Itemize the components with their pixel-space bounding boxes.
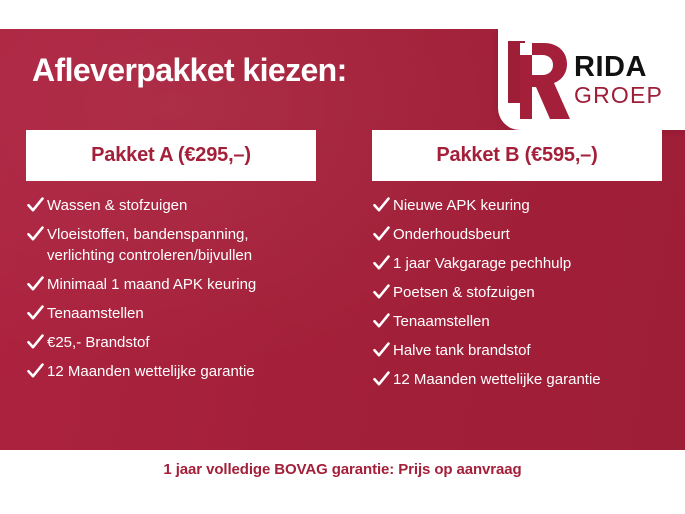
check-icon xyxy=(372,340,391,361)
bovag-guarantee-text: 1 jaar volledige BOVAG garantie: Prijs o… xyxy=(163,461,521,478)
check-icon xyxy=(26,195,45,216)
list-item: 1 jaar Vakgarage pechhulp xyxy=(372,253,662,274)
page-title: Afleverpakket kiezen: xyxy=(32,50,347,90)
afleverpakket-poster: Afleverpakket kiezen: RIDA GROEP xyxy=(0,0,685,514)
list-item-label: 12 Maanden wettelijke garantie xyxy=(391,369,662,390)
package-a-header: Pakket A (€295,–) xyxy=(26,130,316,181)
list-item: Poetsen & stofzuigen xyxy=(372,282,662,303)
check-icon xyxy=(372,369,391,390)
list-item-label: 12 Maanden wettelijke garantie xyxy=(45,361,316,382)
brand-logo: RIDA GROEP xyxy=(506,37,685,122)
list-item: 12 Maanden wettelijke garantie xyxy=(26,361,316,382)
list-item: Minimaal 1 maand APK keuring xyxy=(26,274,316,295)
red-background-panel: Afleverpakket kiezen: RIDA GROEP xyxy=(0,29,685,450)
check-icon xyxy=(26,332,45,353)
list-item: 12 Maanden wettelijke garantie xyxy=(372,369,662,390)
list-item-label: Minimaal 1 maand APK keuring xyxy=(45,274,316,295)
package-b-header: Pakket B (€595,–) xyxy=(372,130,662,181)
check-icon xyxy=(26,224,45,245)
list-item-label: Poetsen & stofzuigen xyxy=(391,282,662,303)
list-item: Halve tank brandstof xyxy=(372,340,662,361)
check-icon xyxy=(26,303,45,324)
list-item-label: Onderhoudsbeurt xyxy=(391,224,662,245)
list-item: Tenaamstellen xyxy=(26,303,316,324)
list-item: €25,- Brandstof xyxy=(26,332,316,353)
brand-wordmark: RIDA GROEP xyxy=(574,53,663,107)
list-item-label: €25,- Brandstof xyxy=(45,332,316,353)
list-item-label: Wassen & stofzuigen xyxy=(45,195,316,216)
brand-logo-panel: RIDA GROEP xyxy=(498,29,685,130)
list-item-label: 1 jaar Vakgarage pechhulp xyxy=(391,253,662,274)
check-icon xyxy=(372,282,391,303)
package-a-title: Pakket A (€295,–) xyxy=(91,144,251,167)
package-card-a[interactable]: Pakket A (€295,–) Wassen & stofzuigen xyxy=(26,130,316,390)
list-item: Tenaamstellen xyxy=(372,311,662,332)
list-item: Onderhoudsbeurt xyxy=(372,224,662,245)
check-icon xyxy=(372,195,391,216)
check-icon xyxy=(372,253,391,274)
check-icon xyxy=(372,311,391,332)
check-icon xyxy=(26,274,45,295)
check-icon xyxy=(26,361,45,382)
bottom-banner: 1 jaar volledige BOVAG garantie: Prijs o… xyxy=(0,450,685,514)
package-b-feature-list: Nieuwe APK keuring Onderhoudsbeurt xyxy=(372,195,662,390)
brand-subname: GROEP xyxy=(574,84,663,107)
rida-r-monogram-icon xyxy=(508,41,570,119)
package-a-feature-list: Wassen & stofzuigen Vloeistoffen, banden… xyxy=(26,195,316,382)
list-item-label: Tenaamstellen xyxy=(391,311,662,332)
package-columns: Pakket A (€295,–) Wassen & stofzuigen xyxy=(0,130,685,450)
list-item-label: Halve tank brandstof xyxy=(391,340,662,361)
list-item-label: Tenaamstellen xyxy=(45,303,316,324)
brand-name: RIDA xyxy=(574,53,663,82)
package-card-b[interactable]: Pakket B (€595,–) Nieuwe APK keuring xyxy=(372,130,662,398)
check-icon xyxy=(372,224,391,245)
poster-header: Afleverpakket kiezen: RIDA GROEP xyxy=(0,29,685,130)
list-item: Nieuwe APK keuring xyxy=(372,195,662,216)
list-item-label: Nieuwe APK keuring xyxy=(391,195,662,216)
package-b-title: Pakket B (€595,–) xyxy=(436,144,597,167)
list-item: Vloeistoffen, bandenspanning, verlichtin… xyxy=(26,224,316,266)
list-item-label: Vloeistoffen, bandenspanning, verlichtin… xyxy=(45,224,316,266)
list-item: Wassen & stofzuigen xyxy=(26,195,316,216)
